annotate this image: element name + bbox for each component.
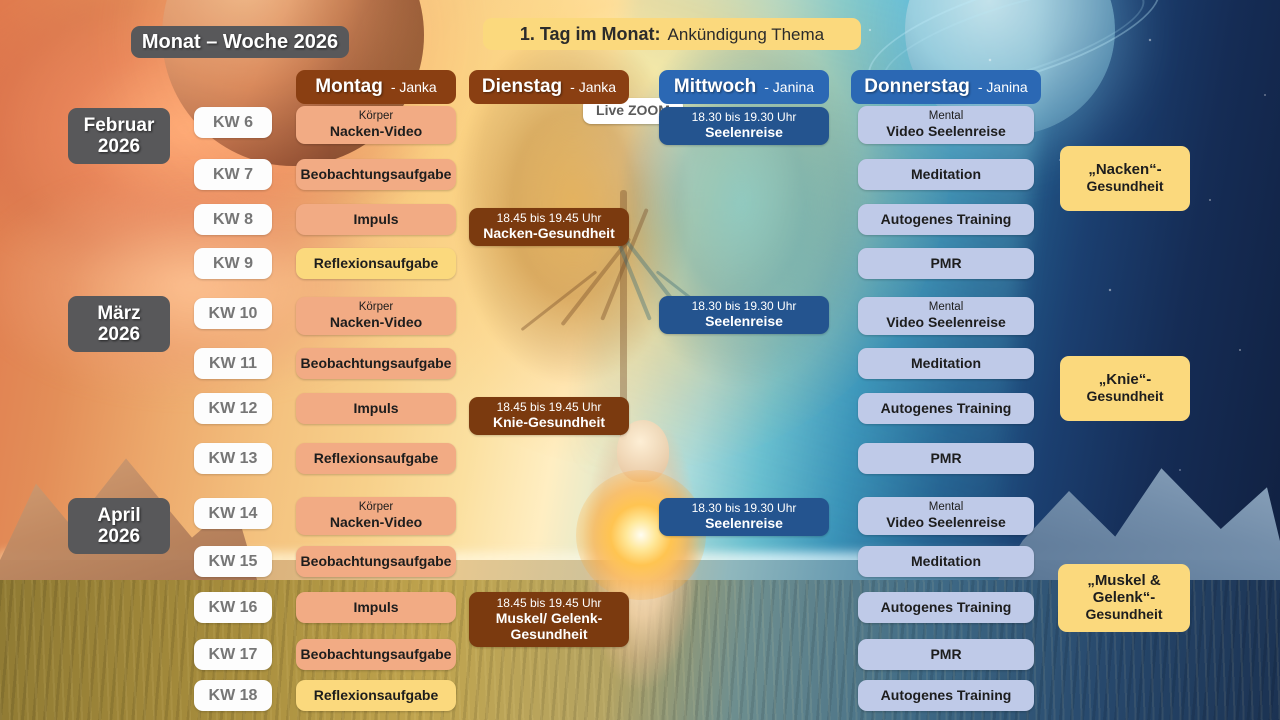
- cell-label: Video Seelenreise: [886, 315, 1006, 331]
- cell-label: Autogenes Training: [881, 600, 1012, 616]
- day-name: Dienstag: [482, 76, 562, 97]
- cell-subtitle: 18.45 bis 19.45 Uhr: [497, 401, 602, 414]
- mittwoch-cell-1[interactable]: 18.30 bis 19.30 UhrSeelenreise: [659, 107, 829, 145]
- cell-label: PMR: [930, 256, 961, 272]
- cell-subtitle: Mental: [929, 110, 964, 123]
- cell-label: Meditation: [911, 167, 981, 183]
- month-announcement-banner: 1. Tag im Monat: Ankündigung Thema: [483, 18, 861, 50]
- day-coach: - Janina: [978, 80, 1028, 96]
- topic-chip-nacken: „Nacken“- Gesundheit: [1060, 146, 1190, 211]
- montag-cell-9[interactable]: KörperNacken-Video: [296, 497, 456, 535]
- montag-cell-7[interactable]: Impuls: [296, 393, 456, 424]
- kw-chip-kw-10[interactable]: KW 10: [194, 298, 272, 329]
- kw-chip-kw-14[interactable]: KW 14: [194, 498, 272, 529]
- kw-chip-kw-11[interactable]: KW 11: [194, 348, 272, 379]
- day-header-montag: Montag - Janka: [296, 70, 456, 104]
- montag-cell-4[interactable]: Reflexionsaufgabe: [296, 248, 456, 279]
- day-header-mittwoch: Mittwoch - Janina: [659, 70, 829, 104]
- kw-chip-kw-16[interactable]: KW 16: [194, 592, 272, 623]
- topic-chip-knie: „Knie“- Gesundheit: [1060, 356, 1190, 421]
- cell-label: Meditation: [911, 554, 981, 570]
- cell-label: Impuls: [353, 401, 398, 417]
- cell-label: Impuls: [353, 212, 398, 228]
- kw-chip-kw-13[interactable]: KW 13: [194, 443, 272, 474]
- montag-cell-8[interactable]: Reflexionsaufgabe: [296, 443, 456, 474]
- month-name: Februar: [84, 115, 155, 136]
- cell-label: Beobachtungsaufgabe: [301, 356, 452, 372]
- donnerstag-cell-7[interactable]: Autogenes Training: [858, 393, 1034, 424]
- cell-subtitle: 18.45 bis 19.45 Uhr: [497, 597, 602, 610]
- month-year: 2026: [98, 136, 140, 157]
- cell-label: Video Seelenreise: [886, 515, 1006, 531]
- cell-label: Meditation: [911, 356, 981, 372]
- month-chip-februar: Februar 2026: [68, 108, 170, 164]
- topic-title-line2: Gelenk“-: [1093, 590, 1156, 607]
- month-announcement-bold: 1. Tag im Monat:: [520, 24, 661, 44]
- day-name: Donnerstag: [864, 76, 970, 97]
- cell-label: Video Seelenreise: [886, 124, 1006, 140]
- day-coach: - Janka: [391, 80, 437, 96]
- kw-label: KW 17: [209, 646, 258, 664]
- cell-label: Autogenes Training: [881, 401, 1012, 417]
- montag-cell-1[interactable]: KörperNacken-Video: [296, 106, 456, 144]
- cell-subtitle: 18.30 bis 19.30 Uhr: [692, 300, 797, 313]
- cell-subtitle: Körper: [359, 110, 394, 123]
- day-name: Mittwoch: [674, 76, 756, 97]
- cell-subtitle: Körper: [359, 301, 394, 314]
- cell-subtitle: Körper: [359, 501, 394, 514]
- mittwoch-cell-2[interactable]: 18.30 bis 19.30 UhrSeelenreise: [659, 296, 829, 334]
- day-coach: - Janka: [570, 80, 616, 96]
- cell-subtitle: 18.30 bis 19.30 Uhr: [692, 502, 797, 515]
- topic-title: „Knie“-: [1099, 372, 1152, 389]
- donnerstag-cell-12[interactable]: PMR: [858, 639, 1034, 670]
- montag-cell-2[interactable]: Beobachtungsaufgabe: [296, 159, 456, 190]
- cell-label: Autogenes Training: [881, 688, 1012, 704]
- cell-label: Seelenreise: [705, 125, 783, 141]
- month-year: 2026: [98, 324, 140, 345]
- cell-label: Reflexionsaufgabe: [314, 688, 438, 704]
- kw-label: KW 15: [209, 553, 258, 571]
- day-header-dienstag: Dienstag - Janka: [469, 70, 629, 104]
- cell-label: Nacken-Video: [330, 315, 422, 331]
- month-year: 2026: [98, 526, 140, 547]
- kw-chip-kw-18[interactable]: KW 18: [194, 680, 272, 711]
- day-name: Montag: [315, 76, 383, 97]
- montag-cell-5[interactable]: KörperNacken-Video: [296, 297, 456, 335]
- day-header-donnerstag: Donnerstag - Janina: [851, 70, 1041, 104]
- montag-cell-3[interactable]: Impuls: [296, 204, 456, 235]
- month-chip-april: April 2026: [68, 498, 170, 554]
- montag-cell-12[interactable]: Beobachtungsaufgabe: [296, 639, 456, 670]
- kw-label: KW 12: [209, 400, 258, 418]
- kw-chip-kw-6[interactable]: KW 6: [194, 107, 272, 138]
- montag-cell-13[interactable]: Reflexionsaufgabe: [296, 680, 456, 711]
- cell-label: Beobachtungsaufgabe: [301, 554, 452, 570]
- montag-cell-11[interactable]: Impuls: [296, 592, 456, 623]
- cell-label: PMR: [930, 647, 961, 663]
- cell-label: Autogenes Training: [881, 212, 1012, 228]
- cell-label: Nacken-Video: [330, 515, 422, 531]
- kw-chip-kw-8[interactable]: KW 8: [194, 204, 272, 235]
- donnerstag-cell-5[interactable]: MentalVideo Seelenreise: [858, 297, 1034, 335]
- donnerstag-cell-4[interactable]: PMR: [858, 248, 1034, 279]
- kw-label: KW 18: [209, 687, 258, 705]
- kw-label: KW 10: [209, 305, 258, 323]
- topic-subtitle: Gesundheit: [1086, 179, 1163, 195]
- kw-label: KW 16: [209, 599, 258, 617]
- cell-label: Reflexionsaufgabe: [314, 256, 438, 272]
- donnerstag-cell-3[interactable]: Autogenes Training: [858, 204, 1034, 235]
- month-announcement-text: Ankündigung Thema: [668, 25, 825, 44]
- cell-label: PMR: [930, 451, 961, 467]
- kw-chip-kw-9[interactable]: KW 9: [194, 248, 272, 279]
- cell-label: Seelenreise: [705, 314, 783, 330]
- cell-label: Beobachtungsaufgabe: [301, 167, 452, 183]
- cell-label: Reflexionsaufgabe: [314, 451, 438, 467]
- kw-chip-kw-15[interactable]: KW 15: [194, 546, 272, 577]
- page-title: Monat – Woche 2026: [131, 26, 349, 58]
- donnerstag-cell-13[interactable]: Autogenes Training: [858, 680, 1034, 711]
- month-name: März: [97, 303, 140, 324]
- day-coach: - Janina: [764, 80, 814, 96]
- kw-label: KW 14: [209, 505, 258, 523]
- donnerstag-cell-10[interactable]: Meditation: [858, 546, 1034, 577]
- kw-chip-kw-12[interactable]: KW 12: [194, 393, 272, 424]
- dienstag-cell-2[interactable]: 18.45 bis 19.45 UhrKnie-Gesundheit: [469, 397, 629, 435]
- kw-label: KW 6: [213, 114, 253, 132]
- cell-subtitle: Mental: [929, 501, 964, 514]
- donnerstag-cell-2[interactable]: Meditation: [858, 159, 1034, 190]
- mittwoch-cell-3[interactable]: 18.30 bis 19.30 UhrSeelenreise: [659, 498, 829, 536]
- cell-label: Nacken-Gesundheit: [483, 226, 614, 242]
- page-title-text: Monat – Woche 2026: [142, 31, 338, 53]
- month-name: April: [97, 505, 140, 526]
- cell-subtitle: Mental: [929, 301, 964, 314]
- cell-subtitle: 18.45 bis 19.45 Uhr: [497, 212, 602, 225]
- kw-label: KW 8: [213, 211, 253, 229]
- topic-title: „Muskel &: [1087, 573, 1160, 590]
- dienstag-cell-3[interactable]: 18.45 bis 19.45 UhrMuskel/ Gelenk-Gesund…: [469, 592, 629, 647]
- cell-label: Muskel/ Gelenk-Gesundheit: [496, 611, 603, 642]
- kw-chip-kw-7[interactable]: KW 7: [194, 159, 272, 190]
- topic-title: „Nacken“-: [1088, 162, 1161, 179]
- montag-cell-10[interactable]: Beobachtungsaufgabe: [296, 546, 456, 577]
- topic-subtitle: Gesundheit: [1086, 389, 1163, 405]
- topic-subtitle: Gesundheit: [1085, 607, 1162, 623]
- donnerstag-cell-1[interactable]: MentalVideo Seelenreise: [858, 106, 1034, 144]
- kw-label: KW 9: [213, 255, 253, 273]
- kw-label: KW 11: [209, 355, 257, 373]
- topic-chip-muskel-gelenk: „Muskel & Gelenk“- Gesundheit: [1058, 564, 1190, 632]
- cell-label: Knie-Gesundheit: [493, 415, 605, 431]
- cell-subtitle: 18.30 bis 19.30 Uhr: [692, 111, 797, 124]
- dienstag-cell-1[interactable]: 18.45 bis 19.45 UhrNacken-Gesundheit: [469, 208, 629, 246]
- cell-label: Beobachtungsaufgabe: [301, 647, 452, 663]
- montag-cell-6[interactable]: Beobachtungsaufgabe: [296, 348, 456, 379]
- donnerstag-cell-9[interactable]: MentalVideo Seelenreise: [858, 497, 1034, 535]
- month-chip-maerz: März 2026: [68, 296, 170, 352]
- donnerstag-cell-11[interactable]: Autogenes Training: [858, 592, 1034, 623]
- cell-label: Nacken-Video: [330, 124, 422, 140]
- kw-label: KW 7: [213, 166, 253, 184]
- donnerstag-cell-8[interactable]: PMR: [858, 443, 1034, 474]
- slide-canvas: Monat – Woche 2026 1. Tag im Monat: Ankü…: [0, 0, 1280, 720]
- kw-label: KW 13: [209, 450, 258, 468]
- kw-chip-kw-17[interactable]: KW 17: [194, 639, 272, 670]
- cell-label: Impuls: [353, 600, 398, 616]
- cell-label: Seelenreise: [705, 516, 783, 532]
- donnerstag-cell-6[interactable]: Meditation: [858, 348, 1034, 379]
